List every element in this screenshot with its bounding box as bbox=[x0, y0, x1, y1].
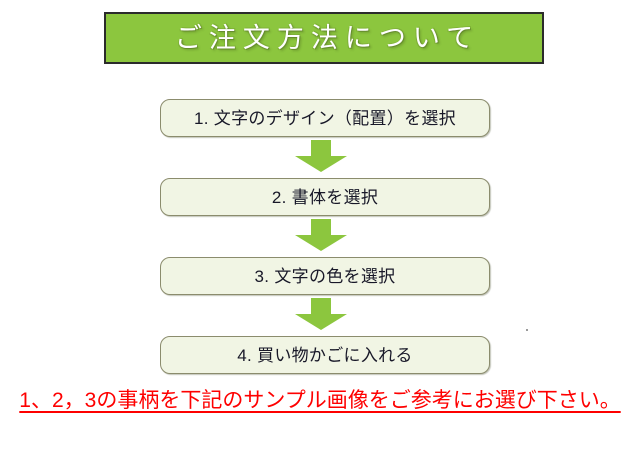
flow-step-1[interactable]: 1. 文字のデザイン（配置）を選択 bbox=[160, 99, 490, 137]
flow-step-1-label: 1. 文字のデザイン（配置）を選択 bbox=[194, 110, 456, 127]
bottom-note: 1、2，3の事柄を下記のサンプル画像をご参考にお選び下さい。 bbox=[0, 389, 640, 412]
arrow-down-icon bbox=[295, 140, 347, 172]
image-artifact-dot bbox=[526, 329, 528, 331]
page-title: ご注文方法について bbox=[168, 25, 480, 52]
flow-step-3-label: 3. 文字の色を選択 bbox=[255, 268, 396, 285]
flow-step-4[interactable]: 4. 買い物かごに入れる bbox=[160, 336, 490, 374]
bottom-note-text: 1、2，3の事柄を下記のサンプル画像をご参考にお選び下さい。 bbox=[19, 389, 620, 412]
arrow-down-icon bbox=[295, 298, 347, 330]
flow-step-3[interactable]: 3. 文字の色を選択 bbox=[160, 257, 490, 295]
order-method-flowchart-page: ご注文方法について 1. 文字のデザイン（配置）を選択 2. 書体を選択 3. … bbox=[0, 0, 640, 454]
page-title-banner: ご注文方法について bbox=[104, 12, 544, 64]
flow-step-4-label: 4. 買い物かごに入れる bbox=[237, 347, 413, 364]
flow-step-2[interactable]: 2. 書体を選択 bbox=[160, 178, 490, 216]
flow-step-2-label: 2. 書体を選択 bbox=[272, 189, 378, 206]
arrow-down-icon bbox=[295, 219, 347, 251]
